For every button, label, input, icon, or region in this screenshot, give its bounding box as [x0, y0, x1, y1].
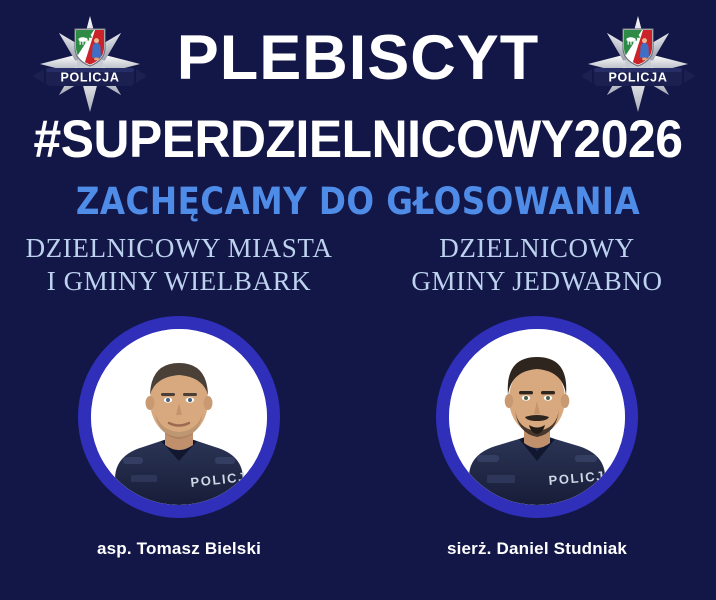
officer-card-left: DZIELNICOWY MIASTA I GMINY WIELBARK	[0, 232, 358, 560]
officer-role-line2: GMINY JEDWABNO	[358, 265, 716, 298]
officer-name-left: asp. Tomasz Bielski	[0, 538, 358, 560]
officer-portrait-left: POLICJA	[91, 329, 267, 505]
hashtag-title: #SUPERDZIELNICOWY2026	[21, 110, 694, 170]
officer-portrait-ring-right: POLICJA	[436, 316, 638, 518]
poster-canvas: POLICJA	[0, 0, 716, 600]
officer-card-right: DZIELNICOWY GMINY JEDWABNO POLI	[358, 232, 716, 560]
call-to-action-text: ZACHĘCAMY DO GŁOSOWANIA	[43, 180, 673, 224]
officer-portrait-ring-left: POLICJA	[78, 316, 280, 518]
page-title: PLEBISCYT	[0, 22, 716, 94]
officer-name-right: sierż. Daniel Studniak	[358, 538, 716, 560]
officer-role-line1: DZIELNICOWY MIASTA	[0, 232, 358, 265]
officer-role-line1: DZIELNICOWY	[358, 232, 716, 265]
officer-portrait-right: POLICJA	[449, 329, 625, 505]
officer-role-line2: I GMINY WIELBARK	[0, 265, 358, 298]
